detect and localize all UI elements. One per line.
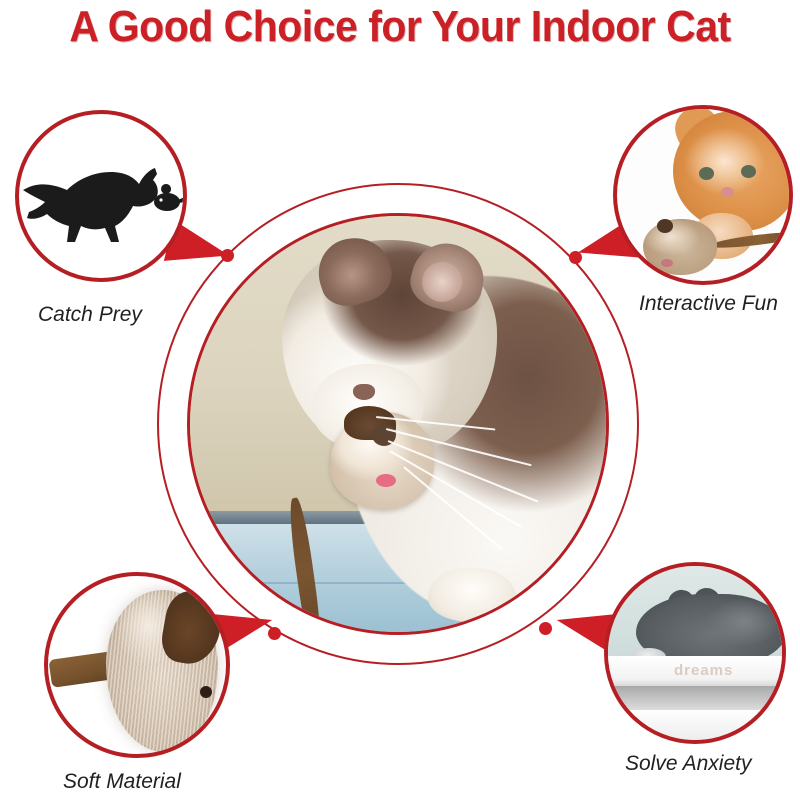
page-title: A Good Choice for Your Indoor Cat [28, 2, 772, 52]
connector-dot-bottom-right [539, 622, 552, 635]
hero-cat-nose [353, 384, 375, 400]
hero-photo-circle [187, 213, 609, 635]
feature-circle-soft-material[interactable] [44, 572, 230, 758]
watermark-text: dreams [674, 662, 733, 679]
feature-circle-catch-prey[interactable] [15, 110, 187, 282]
hero-cat-paw [428, 568, 516, 622]
kitten-eye-right [741, 165, 756, 178]
toy-mouse-body [643, 219, 717, 275]
product-feature-infographic: A Good Choice for Your Indoor Cat [0, 0, 800, 800]
feature-label-solve-anxiety: Solve Anxiety [625, 752, 751, 776]
feature-label-soft-material: Soft Material [63, 770, 181, 794]
plush-mouse-eye [200, 686, 212, 698]
hero-toy-mouse-nose [376, 474, 396, 487]
shelf-shadow-gap [608, 686, 782, 710]
feature-circle-solve-anxiety[interactable]: dreams [604, 562, 786, 744]
kitten-nose [721, 187, 734, 197]
cat-chasing-mouse-silhouette-icon [19, 114, 187, 282]
kitten-eye-left [699, 167, 714, 180]
kitten-photo [673, 111, 793, 231]
hero-cat-ear-inner [422, 262, 462, 302]
feature-circle-interactive-fun[interactable] [613, 105, 793, 285]
lower-shelf [608, 710, 782, 740]
feature-label-interactive-fun: Interactive Fun [639, 292, 778, 316]
feature-label-catch-prey: Catch Prey [38, 303, 142, 327]
toy-mouse-ear [657, 219, 673, 233]
toy-mouse-nose [661, 259, 673, 267]
